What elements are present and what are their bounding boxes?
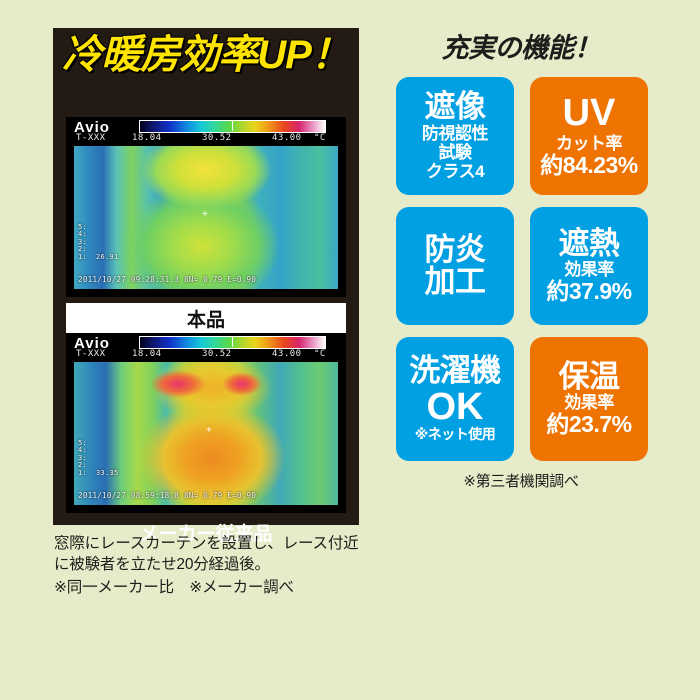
feature-value-uv: 約84.23% <box>540 153 638 178</box>
feature-title-bouen: 防炎 <box>425 234 486 266</box>
left-footnote-line3: ※同一メーカー比 ※メーカー調べ <box>54 577 372 598</box>
feature-title-sentakuki: 洗濯機 <box>409 355 501 387</box>
left-panel: 冷暖房効率UP！ Avio T-XXX 18.04 30.52 43.00 °C… <box>53 28 359 525</box>
left-footnote: 窓際にレースカーテンを設置し、レース付近 に被験者を立たせ20分経過後。 ※同一… <box>54 533 372 598</box>
feature-card-shanetsu[interactable]: 遮熱 効果率 約37.9% <box>530 207 648 325</box>
feature-sub1-shazou: 防視認性 <box>422 124 488 143</box>
left-footnote-line1: 窓際にレースカーテンを設置し、レース付近 <box>54 533 372 554</box>
thermal-image-bottom: 5: 4: 3: 2: 1: 33.35 2011/10/27 08:59:18… <box>74 362 338 505</box>
color-scale-tick-bottom <box>232 336 233 347</box>
scale-min-bottom: 18.04 <box>132 349 162 359</box>
thermal-frame-bottom: Avio T-XXX 18.04 30.52 43.00 °C 5: 4: 3:… <box>66 333 346 513</box>
feature-title-hoon: 保温 <box>559 361 620 393</box>
feature-small-sentakuki: ※ネット使用 <box>415 427 496 442</box>
color-scale-bar-bottom <box>139 336 326 349</box>
feature-sub2-shazou: 試験 <box>439 143 472 162</box>
osd-timestamp-top: 2011/10/27 09:28:31.3 8N= 0.79 E=0.90 <box>78 276 256 284</box>
crosshair-marker-bottom: + <box>206 425 212 436</box>
scale-max-top: 43.00 <box>272 133 302 143</box>
right-footnote: ※第三者機関調べ <box>390 470 652 491</box>
feature-card-hoon[interactable]: 保温 効果率 約23.7% <box>530 337 648 461</box>
thermal-header-bottom: Avio T-XXX 18.04 30.52 43.00 °C <box>66 333 346 362</box>
feature-title-shanetsu: 遮熱 <box>559 228 620 260</box>
feature-grid: 遮像 防視認性 試験 クラス4 UV カット率 約84.23% 防炎 加工 遮熱… <box>396 77 652 461</box>
feature-value-shanetsu: 約37.9% <box>546 279 631 304</box>
scale-unit-bottom: °C <box>314 349 326 359</box>
feature-sub3-shazou: クラス4 <box>426 162 484 181</box>
feature-sub1-uv: カット率 <box>556 134 622 153</box>
thermal-header-top: Avio T-XXX 18.04 30.52 43.00 °C <box>66 117 346 146</box>
feature-title2-sentakuki: OK <box>427 388 484 428</box>
scale-max-bottom: 43.00 <box>272 349 302 359</box>
feature-title-uv: UV <box>563 94 616 134</box>
feature-title2-bouen: 加工 <box>425 266 486 298</box>
osd-timestamp-bottom: 2011/10/27 08:59:18.8 8N= 0.79 E=0.90 <box>78 492 256 500</box>
osd-value-top: 26.91 <box>96 254 119 262</box>
color-scale-tick-top <box>232 120 233 131</box>
osd-rows-top: 5: 4: 3: 2: 1: <box>78 224 87 262</box>
thermal-frame-top: Avio T-XXX 18.04 30.52 43.00 °C 5: 4: 3:… <box>66 117 346 297</box>
feature-card-uv[interactable]: UV カット率 約84.23% <box>530 77 648 195</box>
scale-unit-top: °C <box>314 133 326 143</box>
feature-title-shazou: 遮像 <box>425 91 486 123</box>
color-scale-bar-top <box>139 120 326 133</box>
scale-min-top: 18.04 <box>132 133 162 143</box>
crosshair-marker-top: + <box>202 209 208 220</box>
camera-model-bottom: T-XXX <box>76 349 106 359</box>
scale-mid-bottom: 30.52 <box>202 349 232 359</box>
feature-sub1-shanetsu: 効果率 <box>564 260 614 279</box>
right-panel: 充実の機能！ 遮像 防視認性 試験 クラス4 UV カット率 約84.23% 防… <box>390 26 652 491</box>
thermal-image-top: 5: 4: 3: 2: 1: 26.91 2011/10/27 09:28:31… <box>74 146 338 289</box>
scale-labels-top: T-XXX 18.04 30.52 43.00 °C <box>74 133 338 145</box>
poster-root: 冷暖房効率UP！ Avio T-XXX 18.04 30.52 43.00 °C… <box>0 0 700 700</box>
feature-value-hoon: 約23.7% <box>546 412 631 437</box>
left-footnote-line2: に被験者を立たせ20分経過後。 <box>54 554 372 575</box>
camera-model-top: T-XXX <box>76 133 106 143</box>
scale-mid-top: 30.52 <box>202 133 232 143</box>
feature-card-sentakuki[interactable]: 洗濯機 OK ※ネット使用 <box>396 337 514 461</box>
feature-sub1-hoon: 効果率 <box>564 393 614 412</box>
feature-card-bouen[interactable]: 防炎 加工 <box>396 207 514 325</box>
feature-card-shazou[interactable]: 遮像 防視認性 試験 クラス4 <box>396 77 514 195</box>
osd-rows-bottom: 5: 4: 3: 2: 1: <box>78 440 87 478</box>
osd-value-bottom: 33.35 <box>96 470 119 478</box>
features-title: 充実の機能！ <box>390 26 652 65</box>
headline: 冷暖房効率UP！ <box>53 34 359 76</box>
scale-labels-bottom: T-XXX 18.04 30.52 43.00 °C <box>74 349 338 361</box>
caption-honhin: 本品 <box>66 303 346 333</box>
